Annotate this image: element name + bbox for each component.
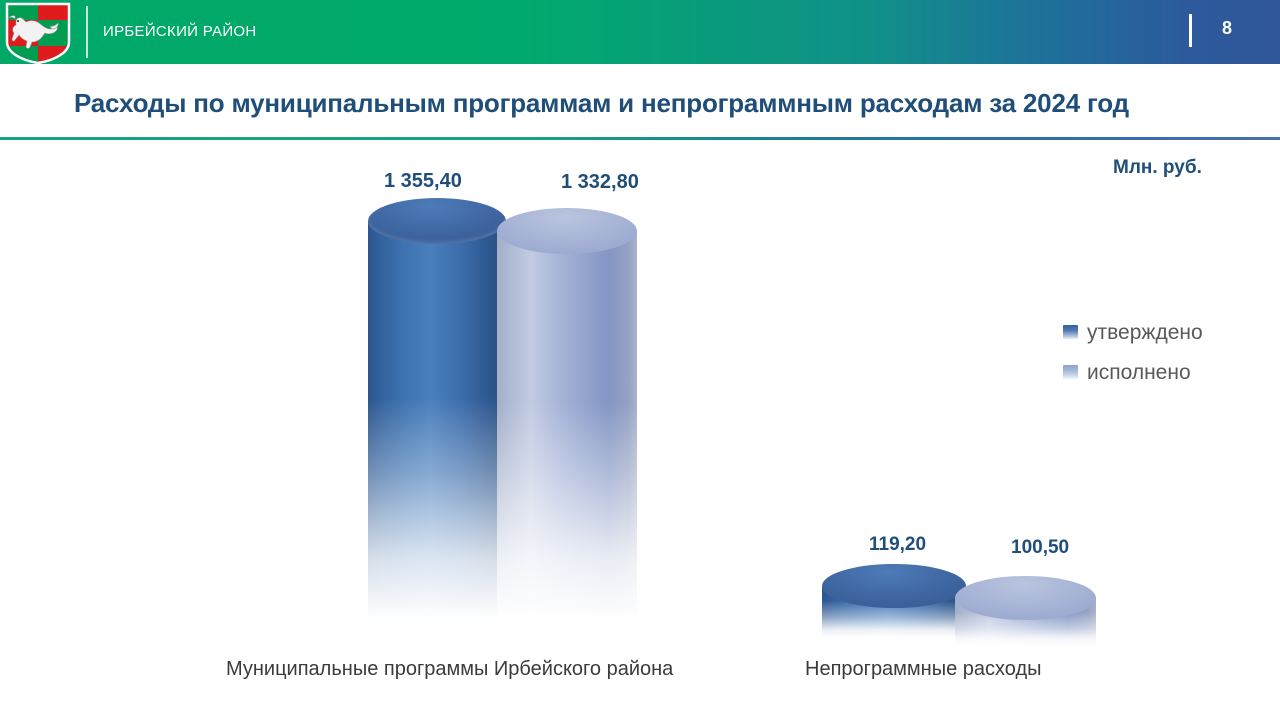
coat-of-arms-icon: [4, 2, 72, 64]
chart-units-label: Млн. руб.: [1113, 157, 1202, 179]
title-divider-rule: [0, 137, 1280, 140]
legend-item-approved[interactable]: утверждено: [1063, 312, 1203, 352]
organization-name: ИРБЕЙСКИЙ РАЙОН: [103, 23, 257, 40]
legend-item-executed[interactable]: исполнено: [1063, 352, 1203, 392]
legend-swatch-executed-icon: [1063, 365, 1078, 379]
legend-label-executed: исполнено: [1087, 362, 1191, 383]
bar-approved-municipal-programs[interactable]: [368, 198, 506, 632]
slide: ИРБЕЙСКИЙ РАЙОН 8 Расходы по муниципальн…: [0, 0, 1280, 720]
data-label-executed-municipal-programs: 1 332,80: [561, 171, 639, 194]
data-label-executed-non-program: 100,50: [1011, 537, 1069, 559]
slide-header: ИРБЕЙСКИЙ РАЙОН 8: [0, 0, 1280, 64]
page-number: 8: [1210, 18, 1244, 39]
bar-executed-non-program[interactable]: [955, 576, 1096, 646]
bar-top-ellipse: [497, 208, 637, 254]
chart-legend: утверждено исполнено: [1063, 312, 1203, 392]
page-title: Расходы по муниципальным программам и не…: [74, 88, 1224, 119]
bar-top-ellipse: [368, 198, 506, 244]
data-label-approved-municipal-programs: 1 355,40: [384, 170, 462, 193]
bar-approved-non-program[interactable]: [822, 564, 966, 638]
bar-top-ellipse: [955, 576, 1096, 620]
data-label-approved-non-program: 119,20: [869, 534, 926, 556]
page-number-divider: [1189, 14, 1192, 47]
bar-body: [368, 221, 506, 632]
bar-executed-municipal-programs[interactable]: [497, 208, 637, 632]
bar-body: [497, 231, 637, 632]
legend-label-approved: утверждено: [1087, 322, 1203, 343]
category-label-municipal-programs: Муниципальные программы Ирбейского район…: [226, 658, 673, 681]
header-divider: [86, 6, 88, 58]
bar-top-ellipse: [822, 564, 966, 608]
category-label-non-program: Непрограммные расходы: [805, 658, 1042, 681]
legend-swatch-approved-icon: [1063, 325, 1078, 339]
